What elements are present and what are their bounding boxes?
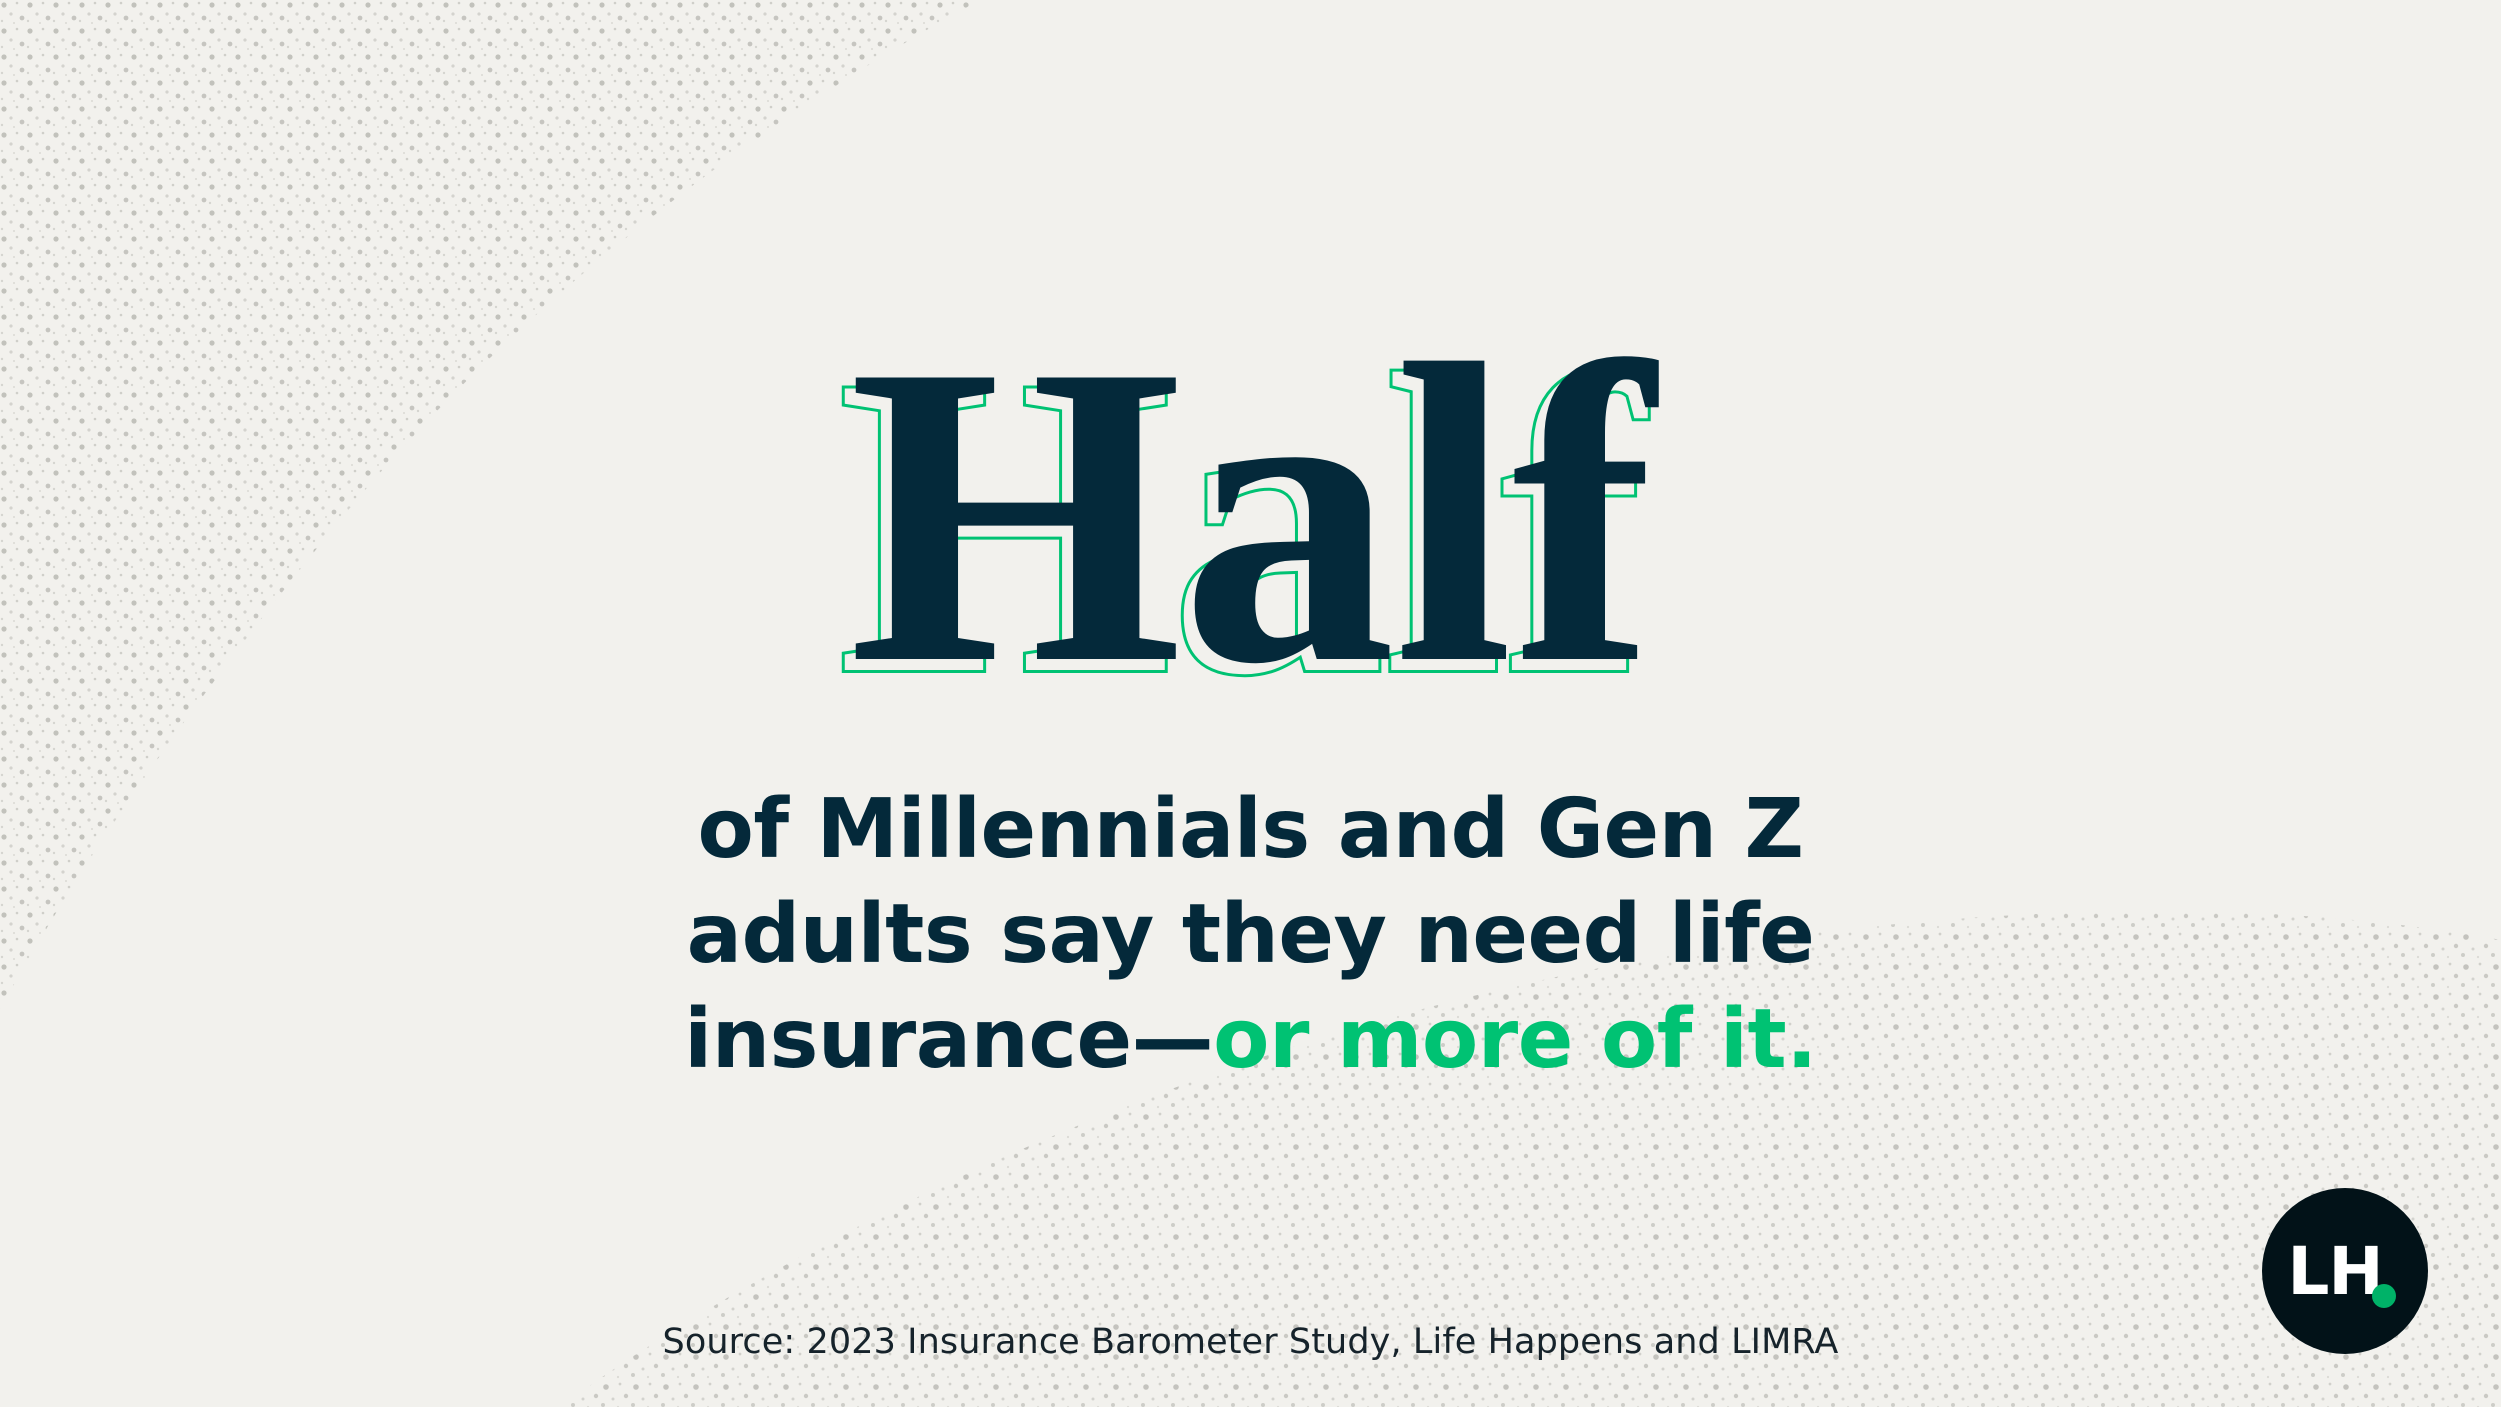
subtitle-line-3-prefix: insurance— (684, 992, 1213, 1087)
life-happens-logo[interactable]: LH (2262, 1188, 2428, 1354)
background-decor-layer (0, 0, 2501, 1407)
subtitle-line-3-highlight: or more of it. (1213, 992, 1817, 1087)
subtitle-line-1: of Millennials and Gen Z (0, 778, 2501, 883)
poster-canvas: Half Half Half of Millennials and Gen Z … (0, 0, 2501, 1407)
speckle-blobs-svg (0, 0, 2501, 1407)
headline-knockout-mask: Half (837, 311, 1641, 741)
subtitle-line-3: insurance—or more of it. (0, 988, 2501, 1093)
subtitle-line-2: adults say they need life (0, 883, 2501, 988)
headline-layer-stack: Half Half Half (848, 300, 1652, 730)
source-attribution: Source: 2023 Insurance Barometer Study, … (0, 1322, 2501, 1362)
top-left-speckle-blob (0, 0, 980, 1010)
headline-text: Half (848, 300, 1652, 730)
logo-dot-icon (2372, 1284, 2396, 1308)
headline-block: Half Half Half (0, 300, 2501, 730)
logo-letters: LH (2262, 1188, 2428, 1354)
subtitle-block: of Millennials and Gen Z adults say they… (0, 778, 2501, 1093)
headline-green-outline: Half (837, 311, 1641, 741)
